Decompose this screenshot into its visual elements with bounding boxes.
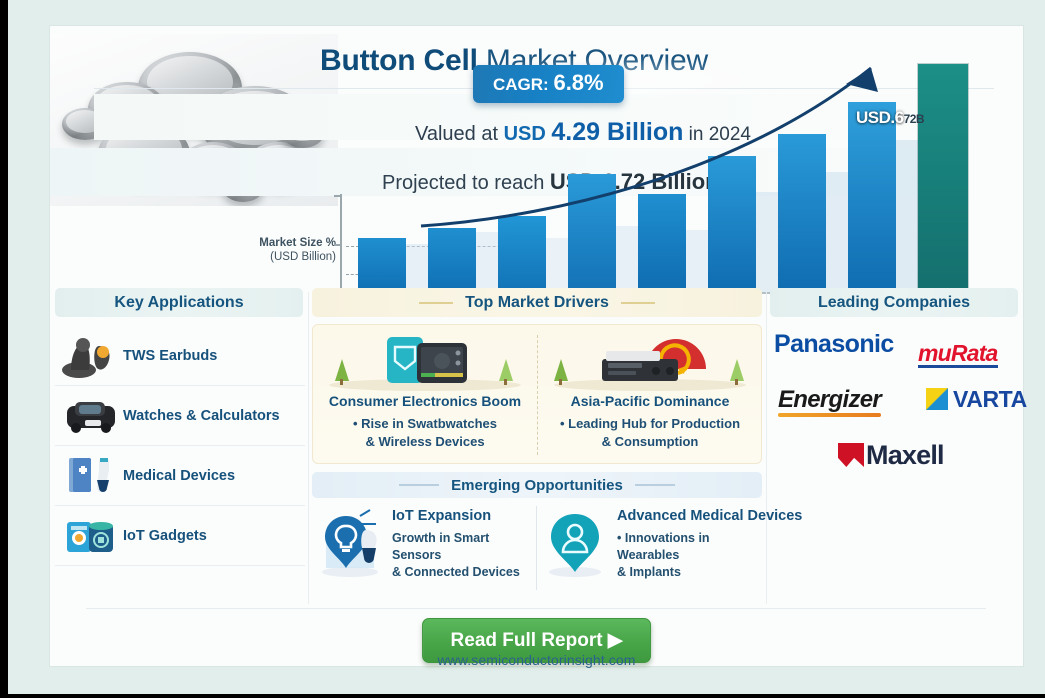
logo-panasonic-label: Panasonic [774,330,894,358]
logo-maxell[interactable]: Maxell [838,440,944,471]
y-axis-label: Market Size % (USD Billion) [236,236,336,264]
section-header-emerging-opportunities-label: Emerging Opportunities [451,477,623,494]
opp-dash-left [399,484,439,486]
medical-kit-icon [61,452,123,500]
driver-bullet-line2: & Wireless Devices [313,433,537,451]
maxell-mark-icon [838,443,864,467]
list-item[interactable]: Watches & Calculators [55,386,305,446]
list-item[interactable]: TWS Earbuds [55,326,305,386]
opportunity-sub-line1: • Innovations in Wearables [617,530,759,564]
section-header-key-applications: Key Applications [55,288,303,317]
list-item-label: Medical Devices [123,468,235,484]
opportunity-title: IoT Expansion [392,508,491,524]
market-size-bar-chart: Market Size % (USD Billion) [236,48,996,306]
opportunity-sub: Growth in Smart Sensors & Connected Devi… [392,530,534,581]
read-full-report-label: Read Full Report [451,630,603,651]
logo-murata-label: muRata [918,340,998,366]
earbuds-icon [61,332,123,380]
varta-mark-icon [926,388,948,410]
list-item[interactable]: Medical Devices [55,446,305,506]
opp-dash-right [635,484,675,486]
logo-maxell-label: Maxell [866,440,944,470]
opportunity-card[interactable]: Advanced Medical Devices • Innovations i… [537,502,759,594]
driver-bullets: • Leading Hub for Production & Consumpti… [538,415,762,451]
hero-section: Button Cell Market Overview Valued at US… [50,26,1023,286]
end-value-badge: USD.672B [856,108,924,128]
logo-energizer-label: Energizer [778,386,881,413]
logo-varta[interactable]: VARTA [926,386,1027,413]
section-header-emerging-opportunities: Emerging Opportunities [312,472,762,498]
list-item-label: TWS Earbuds [123,348,217,364]
section-header-market-drivers: Top Market Drivers [312,288,762,317]
list-item-label: Watches & Calculators [123,408,280,424]
tablet-and-phone-icon [313,329,537,391]
opportunity-sub-line2: & Implants [617,564,759,581]
list-item-label: IoT Gadgets [123,528,207,544]
iot-device-icon [61,512,123,560]
emerging-opportunities-panel: IoT Expansion Growth in Smart Sensors & … [312,502,762,594]
logo-panasonic[interactable]: Panasonic [774,330,894,359]
driver-title: Consumer Electronics Boom [313,393,537,409]
cta-divider [86,608,986,609]
logo-murata[interactable]: muRata [918,340,998,368]
opportunity-card[interactable]: IoT Expansion Growth in Smart Sensors & … [312,502,534,594]
driver-bullets: • Rise in Swatbwatches & Wireless Device… [313,415,537,451]
panel-separator-left [308,292,309,604]
logo-varta-label: VARTA [953,386,1027,412]
market-drivers-panel: Consumer Electronics Boom • Rise in Swat… [312,324,762,464]
opportunity-sub-line1: Growth in Smart Sensors [392,530,534,564]
driver-title: Asia-Pacific Dominance [538,393,762,409]
cagr-value: 6.8% [553,70,603,95]
infographic-card: Button Cell Market Overview Valued at US… [50,26,1023,666]
person-pin-icon [541,508,613,578]
factory-machine-icon [538,329,762,391]
opportunity-sub-line2: & Connected Devices [392,564,534,581]
y-axis-label-line1: Market Size % [236,236,336,250]
list-item[interactable]: IoT Gadgets [55,506,305,566]
end-value-main: USD.6 [856,108,904,127]
leading-companies-logos: Panasonic muRata Energizer VARTA Maxell [770,324,1020,534]
section-header-market-drivers-label: Top Market Drivers [465,294,609,312]
header-dash-left [419,302,453,304]
end-value-tail: 72B [904,112,925,126]
logo-energizer-underline [778,413,881,417]
logo-energizer[interactable]: Energizer [778,386,881,417]
section-header-leading-companies: Leading Companies [770,288,1018,317]
infographic-frame: Button Cell Market Overview Valued at US… [0,0,1045,698]
driver-card[interactable]: Asia-Pacific Dominance • Leading Hub for… [538,325,762,465]
driver-bullet-line1: • Leading Hub for Production [538,415,762,433]
driver-bullet-line1: • Rise in Swatbwatches [313,415,537,433]
driver-bullet-line2: & Consumption [538,433,762,451]
footer-url[interactable]: www.semiconductorinsight.com [437,652,635,668]
opportunity-sub: • Innovations in Wearables & Implants [617,530,759,581]
panel-separator-right [766,292,767,604]
driver-card[interactable]: Consumer Electronics Boom • Rise in Swat… [313,325,537,465]
key-applications-list: TWS Earbuds Watches & Calculators [55,326,305,566]
header-dash-right [621,302,655,304]
lightbulb-pin-icon [316,508,388,578]
chevron-right-icon: ▶ [608,630,623,651]
section-header-key-applications-label: Key Applications [114,294,243,312]
smartwatch-icon [61,392,123,440]
section-header-leading-companies-label: Leading Companies [818,294,970,312]
cagr-label: CAGR: [493,75,549,94]
cagr-badge: CAGR: 6.8% [473,65,624,103]
panels-section: Key Applications TWS Earbuds [50,288,1023,608]
